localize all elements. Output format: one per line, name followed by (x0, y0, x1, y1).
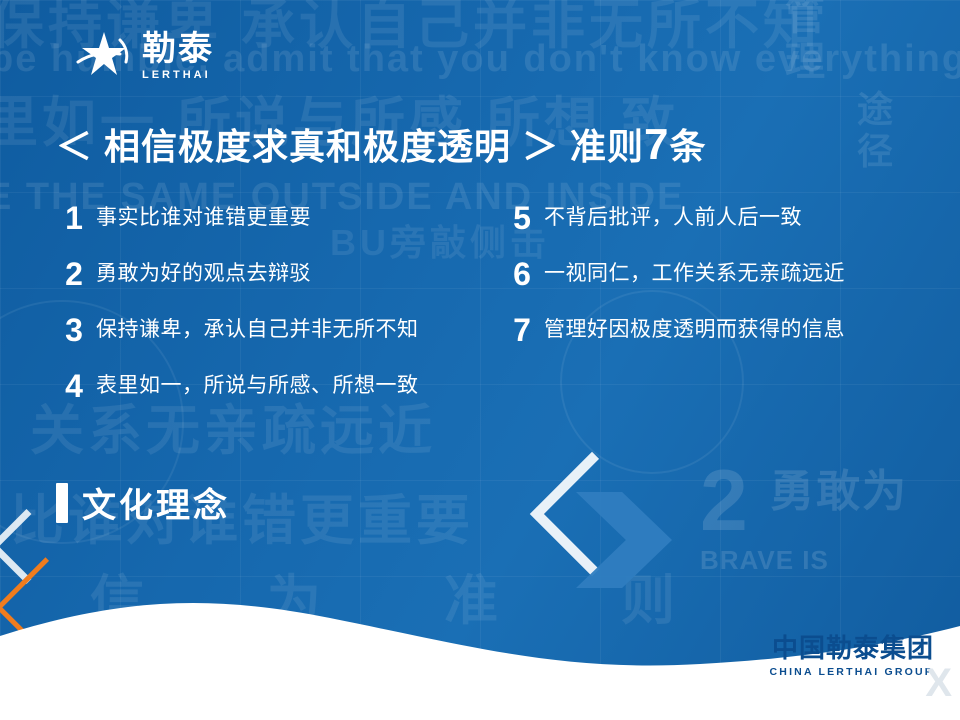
footer-logo-cn: 中国勒泰集团 (770, 634, 935, 663)
principles-column-left: 1 事实比谁对谁错更重要 2 勇敢为好的观点去辩驳 3 保持谦卑，承认自己并非无… (52, 196, 482, 420)
section-title: 文化理念 (82, 478, 230, 527)
page-title: ＜ 相信极度求真和极度透明 ＞ 准则7条 (56, 118, 707, 170)
list-item: 6 一视同仁，工作关系无亲疏远近 (500, 252, 930, 296)
footer-logo: 中国勒泰集团 CHINA LERTHAI GROUP (770, 634, 935, 678)
list-item-index: 2 (52, 252, 96, 296)
star-swoosh-icon (76, 28, 132, 84)
bottom-wave (0, 540, 960, 720)
principles-column-right: 5 不背后批评，人前人后一致 6 一视同仁，工作关系无亲疏远近 7 管理好因极度… (500, 196, 930, 420)
background-big-number-label: 勇敢为 (770, 455, 908, 519)
list-item: 2 勇敢为好的观点去辩驳 (52, 252, 482, 296)
list-item-index: 7 (500, 308, 544, 352)
list-item: 4 表里如一，所说与所感、所想一致 (52, 364, 482, 408)
slide: 保持谦卑 承认自己并非无所不知 be humble, admit that yo… (0, 0, 960, 720)
page-title-suffix: 条 (670, 126, 707, 167)
section-bar-icon (56, 483, 68, 523)
list-item-text: 事实比谁对谁错更重要 (96, 196, 311, 240)
list-item-text: 管理好因极度透明而获得的信息 (544, 308, 845, 352)
brand-logo: 勒泰 LERTHAI (76, 28, 214, 84)
footer-logo-en: CHINA LERTHAI GROUP (770, 666, 935, 678)
list-item-text: 一视同仁，工作关系无亲疏远近 (544, 252, 845, 296)
list-item: 7 管理好因极度透明而获得的信息 (500, 308, 930, 352)
list-item-text: 不背后批评，人前人后一致 (544, 196, 802, 240)
background-vertical-text-2: 途径 (846, 90, 898, 174)
list-item-index: 6 (500, 252, 544, 296)
list-item-index: 1 (52, 196, 96, 240)
background-vertical-text-1: 管理 (772, 0, 830, 86)
background-big-number: 2 (700, 452, 748, 551)
list-item: 3 保持谦卑，承认自己并非无所不知 (52, 308, 482, 352)
footer-watermark: X (925, 661, 952, 706)
page-title-number: 7 (644, 120, 669, 169)
section-heading: 文化理念 (56, 478, 230, 527)
list-item-text: 表里如一，所说与所感、所想一致 (96, 364, 419, 408)
list-item-index: 5 (500, 196, 544, 240)
list-item: 5 不背后批评，人前人后一致 (500, 196, 930, 240)
logo-text-cn: 勒泰 (142, 32, 214, 66)
logo-text-en: LERTHAI (142, 69, 214, 81)
list-item-index: 4 (52, 364, 96, 408)
list-item: 1 事实比谁对谁错更重要 (52, 196, 482, 240)
list-item-index: 3 (52, 308, 96, 352)
principles-list: 1 事实比谁对谁错更重要 2 勇敢为好的观点去辩驳 3 保持谦卑，承认自己并非无… (52, 196, 932, 420)
list-item-text: 勇敢为好的观点去辩驳 (96, 252, 311, 296)
page-title-prefix: ＜ 相信极度求真和极度透明 ＞ 准则 (56, 126, 644, 167)
list-item-text: 保持谦卑，承认自己并非无所不知 (96, 308, 419, 352)
